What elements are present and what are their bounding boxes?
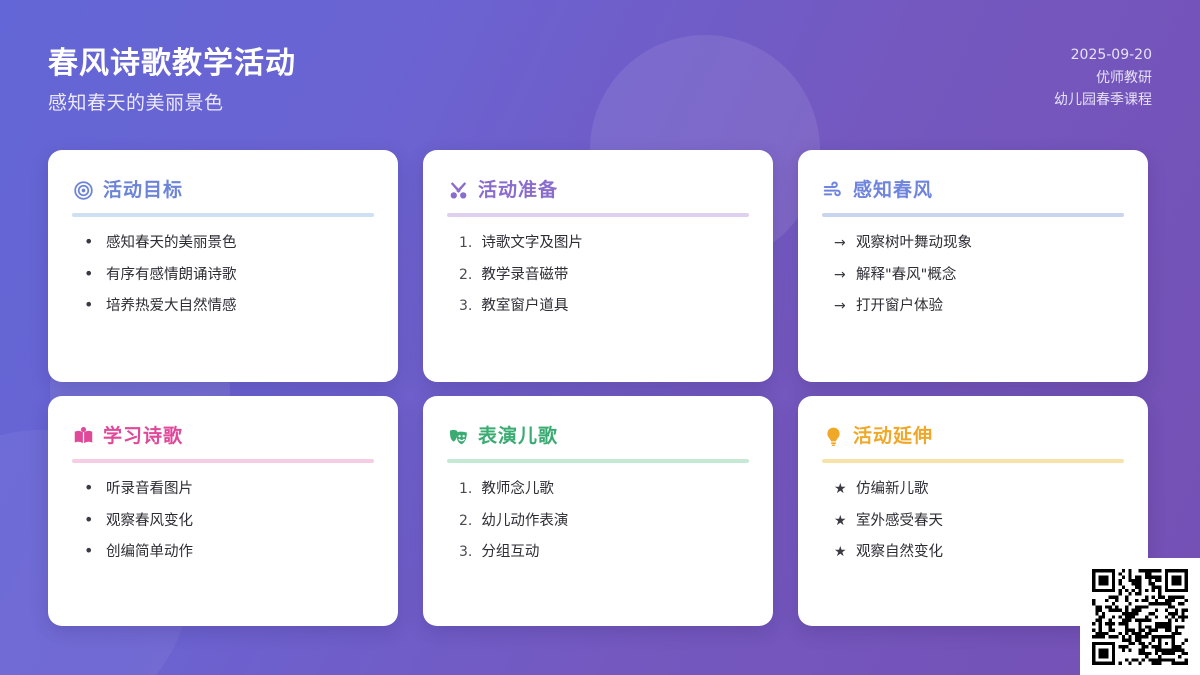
list-marker: • bbox=[84, 266, 97, 282]
tools-icon bbox=[447, 179, 469, 201]
list-marker: → bbox=[834, 234, 847, 253]
list-marker: • bbox=[84, 480, 97, 496]
list-marker: 1. bbox=[459, 480, 472, 499]
card-header: 活动目标 bbox=[72, 176, 374, 204]
list-item-text: 教室窗户道具 bbox=[481, 297, 749, 317]
card-list: 1.教师念儿歌2.幼儿动作表演3.分组互动 bbox=[447, 480, 749, 563]
list-item-text: 分组互动 bbox=[481, 543, 749, 563]
card-表演儿歌: 表演儿歌1.教师念儿歌2.幼儿动作表演3.分组互动 bbox=[423, 396, 773, 626]
card-学习诗歌: 学习诗歌•听录音看图片•观察春风变化•创编简单动作 bbox=[48, 396, 398, 626]
card-header: 活动延伸 bbox=[822, 422, 1124, 450]
list-item: •创编简单动作 bbox=[72, 543, 374, 563]
list-item-text: 教学录音磁带 bbox=[481, 266, 749, 286]
card-title: 表演儿歌 bbox=[478, 427, 558, 446]
list-item: ★仿编新儿歌 bbox=[822, 480, 1124, 500]
card-divider bbox=[72, 213, 374, 217]
list-marker: ★ bbox=[834, 543, 847, 562]
card-header: 活动准备 bbox=[447, 176, 749, 204]
page-title: 春风诗歌教学活动 bbox=[48, 46, 296, 82]
card-活动准备: 活动准备1.诗歌文字及图片2.教学录音磁带3.教室窗户道具 bbox=[423, 150, 773, 382]
list-item-text: 培养热爱大自然情感 bbox=[106, 297, 374, 317]
list-item-text: 感知春天的美丽景色 bbox=[106, 234, 374, 254]
list-item-text: 观察春风变化 bbox=[106, 512, 374, 532]
list-item: •感知春天的美丽景色 bbox=[72, 234, 374, 254]
list-item: 3.分组互动 bbox=[447, 543, 749, 563]
list-marker: ★ bbox=[834, 512, 847, 531]
list-item-text: 创编简单动作 bbox=[106, 543, 374, 563]
card-title: 活动延伸 bbox=[853, 427, 933, 446]
list-marker: 2. bbox=[459, 512, 472, 531]
meta-course: 幼儿园春季课程 bbox=[1054, 89, 1152, 112]
list-marker: 3. bbox=[459, 297, 472, 316]
list-marker: • bbox=[84, 234, 97, 250]
list-item-text: 教师念儿歌 bbox=[481, 480, 749, 500]
list-marker: 1. bbox=[459, 234, 472, 253]
meta-org: 优师教研 bbox=[1054, 67, 1152, 90]
card-title: 感知春风 bbox=[853, 181, 933, 200]
card-title: 活动准备 bbox=[478, 181, 558, 200]
card-divider bbox=[822, 213, 1124, 217]
page-subtitle: 感知春天的美丽景色 bbox=[48, 92, 224, 115]
card-header: 感知春风 bbox=[822, 176, 1124, 204]
list-marker: 2. bbox=[459, 266, 472, 285]
card-divider bbox=[447, 213, 749, 217]
target-icon bbox=[72, 179, 94, 201]
card-title: 活动目标 bbox=[103, 181, 183, 200]
list-marker: → bbox=[834, 297, 847, 316]
list-item: •观察春风变化 bbox=[72, 512, 374, 532]
header-meta: 2025-09-20 优师教研 幼儿园春季课程 bbox=[1054, 44, 1152, 112]
lightbulb-icon bbox=[822, 425, 844, 447]
list-item: 2.幼儿动作表演 bbox=[447, 512, 749, 532]
list-item: •听录音看图片 bbox=[72, 480, 374, 500]
card-divider bbox=[447, 459, 749, 463]
card-list: •感知春天的美丽景色•有序有感情朗诵诗歌•培养热爱大自然情感 bbox=[72, 234, 374, 317]
list-item: ★室外感受春天 bbox=[822, 512, 1124, 532]
slide-header: 春风诗歌教学活动 感知春天的美丽景色 2025-09-20 优师教研 幼儿园春季… bbox=[0, 0, 1200, 140]
qr-panel bbox=[1080, 558, 1200, 675]
open-book-icon bbox=[72, 425, 94, 447]
list-item: •培养热爱大自然情感 bbox=[72, 297, 374, 317]
list-item: →解释"春风"概念 bbox=[822, 266, 1124, 286]
qr-code-image[interactable] bbox=[1092, 569, 1188, 665]
list-item: ★观察自然变化 bbox=[822, 543, 1124, 563]
card-title: 学习诗歌 bbox=[103, 427, 183, 446]
list-marker: • bbox=[84, 297, 97, 313]
list-item-text: 打开窗户体验 bbox=[856, 297, 1124, 317]
card-divider bbox=[822, 459, 1124, 463]
slide-root: 春风诗歌教学活动 感知春天的美丽景色 2025-09-20 优师教研 幼儿园春季… bbox=[0, 0, 1200, 675]
list-item-text: 室外感受春天 bbox=[856, 512, 1124, 532]
card-divider bbox=[72, 459, 374, 463]
list-item: →观察树叶舞动现象 bbox=[822, 234, 1124, 254]
list-item-text: 听录音看图片 bbox=[106, 480, 374, 500]
list-marker: → bbox=[834, 266, 847, 285]
list-item-text: 解释"春风"概念 bbox=[856, 266, 1124, 286]
list-marker: • bbox=[84, 512, 97, 528]
wind-icon bbox=[822, 179, 844, 201]
list-marker: ★ bbox=[834, 480, 847, 499]
card-活动目标: 活动目标•感知春天的美丽景色•有序有感情朗诵诗歌•培养热爱大自然情感 bbox=[48, 150, 398, 382]
list-item-text: 观察树叶舞动现象 bbox=[856, 234, 1124, 254]
list-item: 2.教学录音磁带 bbox=[447, 266, 749, 286]
list-item: 1.诗歌文字及图片 bbox=[447, 234, 749, 254]
card-list: •听录音看图片•观察春风变化•创编简单动作 bbox=[72, 480, 374, 563]
card-list: 1.诗歌文字及图片2.教学录音磁带3.教室窗户道具 bbox=[447, 234, 749, 317]
list-item-text: 诗歌文字及图片 bbox=[481, 234, 749, 254]
list-item: 3.教室窗户道具 bbox=[447, 297, 749, 317]
card-header: 表演儿歌 bbox=[447, 422, 749, 450]
list-item-text: 幼儿动作表演 bbox=[481, 512, 749, 532]
card-header: 学习诗歌 bbox=[72, 422, 374, 450]
list-item-text: 仿编新儿歌 bbox=[856, 480, 1124, 500]
list-item-text: 有序有感情朗诵诗歌 bbox=[106, 266, 374, 286]
list-item: →打开窗户体验 bbox=[822, 297, 1124, 317]
list-item: 1.教师念儿歌 bbox=[447, 480, 749, 500]
meta-date: 2025-09-20 bbox=[1054, 44, 1152, 67]
list-marker: • bbox=[84, 543, 97, 559]
card-list: →观察树叶舞动现象→解释"春风"概念→打开窗户体验 bbox=[822, 234, 1124, 317]
card-感知春风: 感知春风→观察树叶舞动现象→解释"春风"概念→打开窗户体验 bbox=[798, 150, 1148, 382]
card-grid: 活动目标•感知春天的美丽景色•有序有感情朗诵诗歌•培养热爱大自然情感活动准备1.… bbox=[48, 150, 1152, 626]
list-marker: 3. bbox=[459, 543, 472, 562]
card-list: ★仿编新儿歌★室外感受春天★观察自然变化 bbox=[822, 480, 1124, 563]
theater-masks-icon bbox=[447, 425, 469, 447]
list-item: •有序有感情朗诵诗歌 bbox=[72, 266, 374, 286]
